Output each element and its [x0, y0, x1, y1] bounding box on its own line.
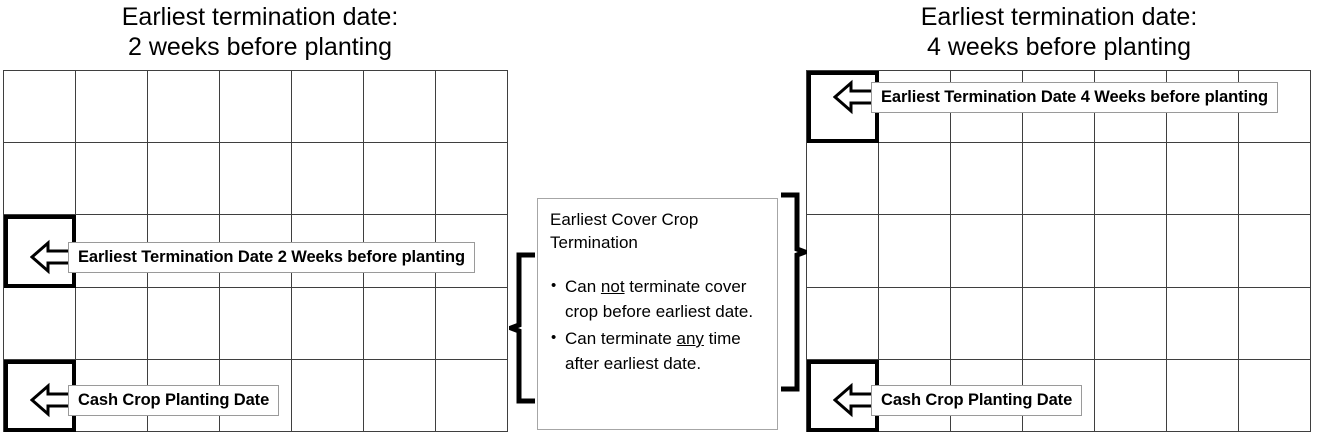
calendar-cell[interactable] [1023, 288, 1095, 360]
calendar-cell[interactable] [807, 215, 879, 287]
calendar-cell[interactable] [1023, 215, 1095, 287]
bullet-text-emphasis: not [601, 277, 625, 296]
calendar-cell[interactable] [220, 288, 292, 360]
calendar-cell[interactable] [951, 288, 1023, 360]
list-item: Can not terminate cover crop before earl… [550, 274, 767, 324]
list-item: Can terminate any time after earliest da… [550, 326, 767, 376]
callout-label: Cash Crop Planting Date [68, 385, 279, 416]
calendar-cell[interactable] [292, 360, 364, 432]
callout-label: Earliest Termination Date 4 Weeks before… [871, 82, 1278, 113]
calendar-cell[interactable] [76, 288, 148, 360]
callout-label: Earliest Termination Date 2 Weeks before… [68, 242, 475, 273]
calendar-cell[interactable] [879, 143, 951, 215]
calendar-cell[interactable] [1167, 288, 1239, 360]
callout-right-cash-crop-planting[interactable]: Cash Crop Planting Date [833, 381, 1082, 419]
calendar-cell[interactable] [1239, 215, 1311, 287]
calendar-cell[interactable] [951, 215, 1023, 287]
calendar-cell[interactable] [4, 288, 76, 360]
calendar-cell[interactable] [807, 288, 879, 360]
right-calendar-grid [806, 70, 1311, 432]
calendar-cell[interactable] [879, 288, 951, 360]
calendar-cell[interactable] [148, 71, 220, 143]
callout-right-earliest-termination[interactable]: Earliest Termination Date 4 Weeks before… [833, 78, 1278, 116]
bullet-text-part: Can [565, 277, 601, 296]
callout-label: Cash Crop Planting Date [871, 385, 1082, 416]
calendar-cell[interactable] [76, 143, 148, 215]
calendar-cell[interactable] [1095, 215, 1167, 287]
calendar-cell[interactable] [364, 360, 436, 432]
bullet-text-emphasis: any [677, 329, 704, 348]
calendar-cell[interactable] [220, 143, 292, 215]
calendar-cell[interactable] [436, 71, 508, 143]
calendar-cell[interactable] [436, 288, 508, 360]
callout-left-earliest-termination[interactable]: Earliest Termination Date 2 Weeks before… [30, 238, 475, 276]
calendar-cell[interactable] [292, 143, 364, 215]
calendar-cell[interactable] [436, 360, 508, 432]
calendar-cell[interactable] [1167, 215, 1239, 287]
calendar-cell[interactable] [220, 71, 292, 143]
calendar-cell[interactable] [292, 288, 364, 360]
calendar-cell[interactable] [1095, 288, 1167, 360]
bullet-text-part: Can terminate [565, 329, 677, 348]
calendar-cell[interactable] [807, 143, 879, 215]
calendar-cell[interactable] [148, 143, 220, 215]
calendar-cell[interactable] [364, 288, 436, 360]
calendar-cell[interactable] [436, 143, 508, 215]
calendar-cell[interactable] [1167, 360, 1239, 432]
calendar-cell[interactable] [1095, 360, 1167, 432]
calendar-cell[interactable] [1239, 143, 1311, 215]
brace-right [775, 192, 807, 392]
calendar-cell[interactable] [951, 143, 1023, 215]
center-box-title: Earliest Cover Crop Termination [550, 208, 767, 254]
callout-left-cash-crop-planting[interactable]: Cash Crop Planting Date [30, 381, 279, 419]
calendar-cell[interactable] [4, 71, 76, 143]
center-box-bullet-list: Can not terminate cover crop before earl… [550, 274, 767, 376]
brace-left [509, 252, 539, 404]
right-panel-heading: Earliest termination date: 4 weeks befor… [800, 2, 1318, 62]
calendar-cell[interactable] [1167, 143, 1239, 215]
calendar-cell[interactable] [1095, 143, 1167, 215]
calendar-cell[interactable] [4, 143, 76, 215]
left-panel-heading: Earliest termination date: 2 weeks befor… [0, 2, 520, 62]
earliest-cover-crop-termination-box: Earliest Cover Crop Termination Can not … [537, 198, 778, 430]
calendar-cell[interactable] [879, 215, 951, 287]
calendar-cell[interactable] [76, 71, 148, 143]
calendar-cell[interactable] [292, 71, 364, 143]
calendar-cell[interactable] [364, 143, 436, 215]
calendar-cell[interactable] [148, 288, 220, 360]
calendar-cell[interactable] [364, 71, 436, 143]
calendar-cell[interactable] [1239, 288, 1311, 360]
calendar-cell[interactable] [1239, 360, 1311, 432]
calendar-cell[interactable] [1023, 143, 1095, 215]
